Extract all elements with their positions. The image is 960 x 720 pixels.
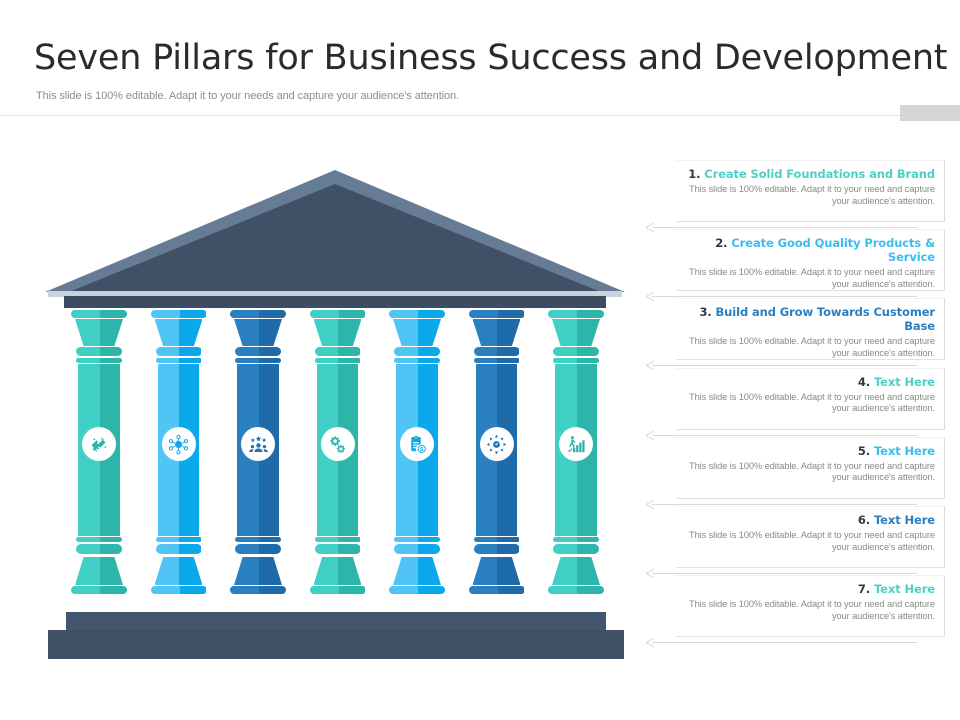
pillar-card-body: This slide is 100% editable. Adapt it to…	[685, 392, 935, 415]
column-ring-top-thin	[315, 358, 361, 363]
column-base	[234, 557, 282, 585]
column-ring-bottom-thick	[553, 544, 599, 554]
column-base	[75, 557, 123, 585]
column-ring-bottom-thick	[156, 544, 202, 554]
column-ring-top-thin	[235, 358, 281, 363]
column-ring-bottom-thick	[394, 544, 440, 554]
column-ring-bottom-thin	[315, 537, 361, 542]
pillar-card-7[interactable]: 7. Text HereThis slide is 100% editable.…	[676, 575, 945, 637]
pillar-card-body: This slide is 100% editable. Adapt it to…	[685, 267, 935, 290]
pillar-column-5[interactable]: S	[388, 310, 446, 608]
column-plinth	[310, 586, 366, 594]
pillar-card-heading: Create Good Quality Products & Service	[731, 236, 935, 264]
column-abacus	[389, 310, 445, 318]
column-ring-top-thick	[474, 347, 520, 356]
column-ring-bottom-thin	[474, 537, 520, 542]
pillar-column-2[interactable]	[150, 310, 208, 608]
pillar-card-number: 4.	[858, 375, 870, 389]
header-corner-block	[900, 105, 960, 121]
column-ring-bottom-thin	[394, 537, 440, 542]
column-abacus	[151, 310, 207, 318]
column-ring-bottom-thin	[553, 537, 599, 542]
pillar-card-title: 1. Create Solid Foundations and Brand	[685, 167, 935, 181]
stylobate-lower-step	[48, 630, 624, 659]
column-abacus	[230, 310, 286, 318]
pillar-column-6[interactable]	[468, 310, 526, 608]
column-plinth	[151, 586, 207, 594]
pillar-card-body: This slide is 100% editable. Adapt it to…	[685, 461, 935, 484]
column-capital	[314, 319, 362, 346]
column-ring-top-thick	[156, 347, 202, 356]
column-capital	[234, 319, 282, 346]
column-ring-top-thick	[76, 347, 122, 356]
pillar-card-title: 7. Text Here	[685, 582, 935, 596]
column-plinth	[230, 586, 286, 594]
pillar-card-title: 4. Text Here	[685, 375, 935, 389]
pillar-card-heading: Create Solid Foundations and Brand	[704, 167, 935, 181]
pediment-icon	[45, 170, 625, 295]
column-abacus	[310, 310, 366, 318]
connector-arrow-7	[645, 637, 917, 648]
team-rating-icon	[241, 427, 275, 461]
pillar-card-title: 5. Text Here	[685, 444, 935, 458]
pillar-card-title: 6. Text Here	[685, 513, 935, 527]
pillar-card-number: 7.	[858, 582, 870, 596]
pillar-card-title: 3. Build and Grow Towards Customer Base	[685, 305, 935, 333]
pillar-card-2[interactable]: 2. Create Good Quality Products & Servic…	[676, 229, 945, 291]
svg-text:S: S	[419, 447, 423, 453]
pillar-card-heading: Text Here	[874, 375, 935, 389]
column-plinth	[469, 586, 525, 594]
column-ring-bottom-thick	[76, 544, 122, 554]
column-plinth	[548, 586, 604, 594]
pillar-card-body: This slide is 100% editable. Adapt it to…	[685, 530, 935, 553]
pillar-description-panel: 1. Create Solid Foundations and BrandThi…	[645, 160, 945, 680]
pillar-card-heading: Text Here	[874, 513, 935, 527]
clipboard-money-icon: S	[400, 427, 434, 461]
expand-target-icon	[480, 427, 514, 461]
column-ring-bottom-thick	[474, 544, 520, 554]
handshake-icon	[82, 427, 116, 461]
column-abacus	[71, 310, 127, 318]
column-row: S	[70, 310, 603, 608]
global-network-icon	[162, 427, 196, 461]
pillar-card-body: This slide is 100% editable. Adapt it to…	[685, 336, 935, 359]
column-ring-top-thick	[235, 347, 281, 356]
column-base	[393, 557, 441, 585]
gears-icon	[321, 427, 355, 461]
column-ring-top-thin	[474, 358, 520, 363]
pillar-card-number: 3.	[699, 305, 711, 319]
column-ring-top-thick	[394, 347, 440, 356]
column-base	[552, 557, 600, 585]
column-plinth	[389, 586, 445, 594]
page-subtitle: This slide is 100% editable. Adapt it to…	[36, 90, 459, 102]
page-title: Seven Pillars for Business Success and D…	[34, 38, 947, 78]
pillar-card-1[interactable]: 1. Create Solid Foundations and BrandThi…	[676, 160, 945, 222]
pillar-card-title: 2. Create Good Quality Products & Servic…	[685, 236, 935, 264]
column-ring-bottom-thin	[76, 537, 122, 542]
pillar-card-heading: Text Here	[874, 444, 935, 458]
column-base	[314, 557, 362, 585]
column-ring-bottom-thick	[315, 544, 361, 554]
column-ring-bottom-thin	[235, 537, 281, 542]
column-abacus	[469, 310, 525, 318]
column-ring-top-thin	[553, 358, 599, 363]
pillar-card-body: This slide is 100% editable. Adapt it to…	[685, 184, 935, 207]
growth-chart-icon	[559, 427, 593, 461]
pillar-column-4[interactable]	[309, 310, 367, 608]
column-ring-top-thin	[394, 358, 440, 363]
pillar-card-number: 6.	[858, 513, 870, 527]
pillar-card-body: This slide is 100% editable. Adapt it to…	[685, 599, 935, 622]
column-capital	[473, 319, 521, 346]
column-abacus	[548, 310, 604, 318]
column-ring-top-thin	[76, 358, 122, 363]
pillar-column-3[interactable]	[229, 310, 287, 608]
pillar-card-3[interactable]: 3. Build and Grow Towards Customer BaseT…	[676, 298, 945, 360]
column-base	[473, 557, 521, 585]
stylobate-upper-step	[66, 612, 606, 631]
column-ring-top-thick	[315, 347, 361, 356]
header-divider	[0, 115, 960, 116]
column-ring-bottom-thin	[156, 537, 202, 542]
pillar-card-4[interactable]: 4. Text HereThis slide is 100% editable.…	[676, 368, 945, 430]
column-capital	[552, 319, 600, 346]
pillar-card-5[interactable]: 5. Text HereThis slide is 100% editable.…	[676, 437, 945, 499]
pillar-card-number: 2.	[715, 236, 727, 250]
column-ring-top-thick	[553, 347, 599, 356]
column-ring-bottom-thick	[235, 544, 281, 554]
column-base	[155, 557, 203, 585]
column-plinth	[71, 586, 127, 594]
architrave-bar	[64, 296, 606, 308]
column-capital	[393, 319, 441, 346]
pillar-card-number: 1.	[688, 167, 700, 181]
column-capital	[155, 319, 203, 346]
column-capital	[75, 319, 123, 346]
column-ring-top-thin	[156, 358, 202, 363]
pillar-column-7[interactable]	[547, 310, 605, 608]
pillar-card-6[interactable]: 6. Text HereThis slide is 100% editable.…	[676, 506, 945, 568]
pillar-column-1[interactable]	[70, 310, 128, 608]
pillar-card-heading: Text Here	[874, 582, 935, 596]
slide-canvas: Seven Pillars for Business Success and D…	[0, 0, 960, 720]
seven-pillar-temple-graphic: S	[20, 160, 650, 670]
pillar-card-heading: Build and Grow Towards Customer Base	[716, 305, 935, 333]
pillar-card-number: 5.	[858, 444, 870, 458]
